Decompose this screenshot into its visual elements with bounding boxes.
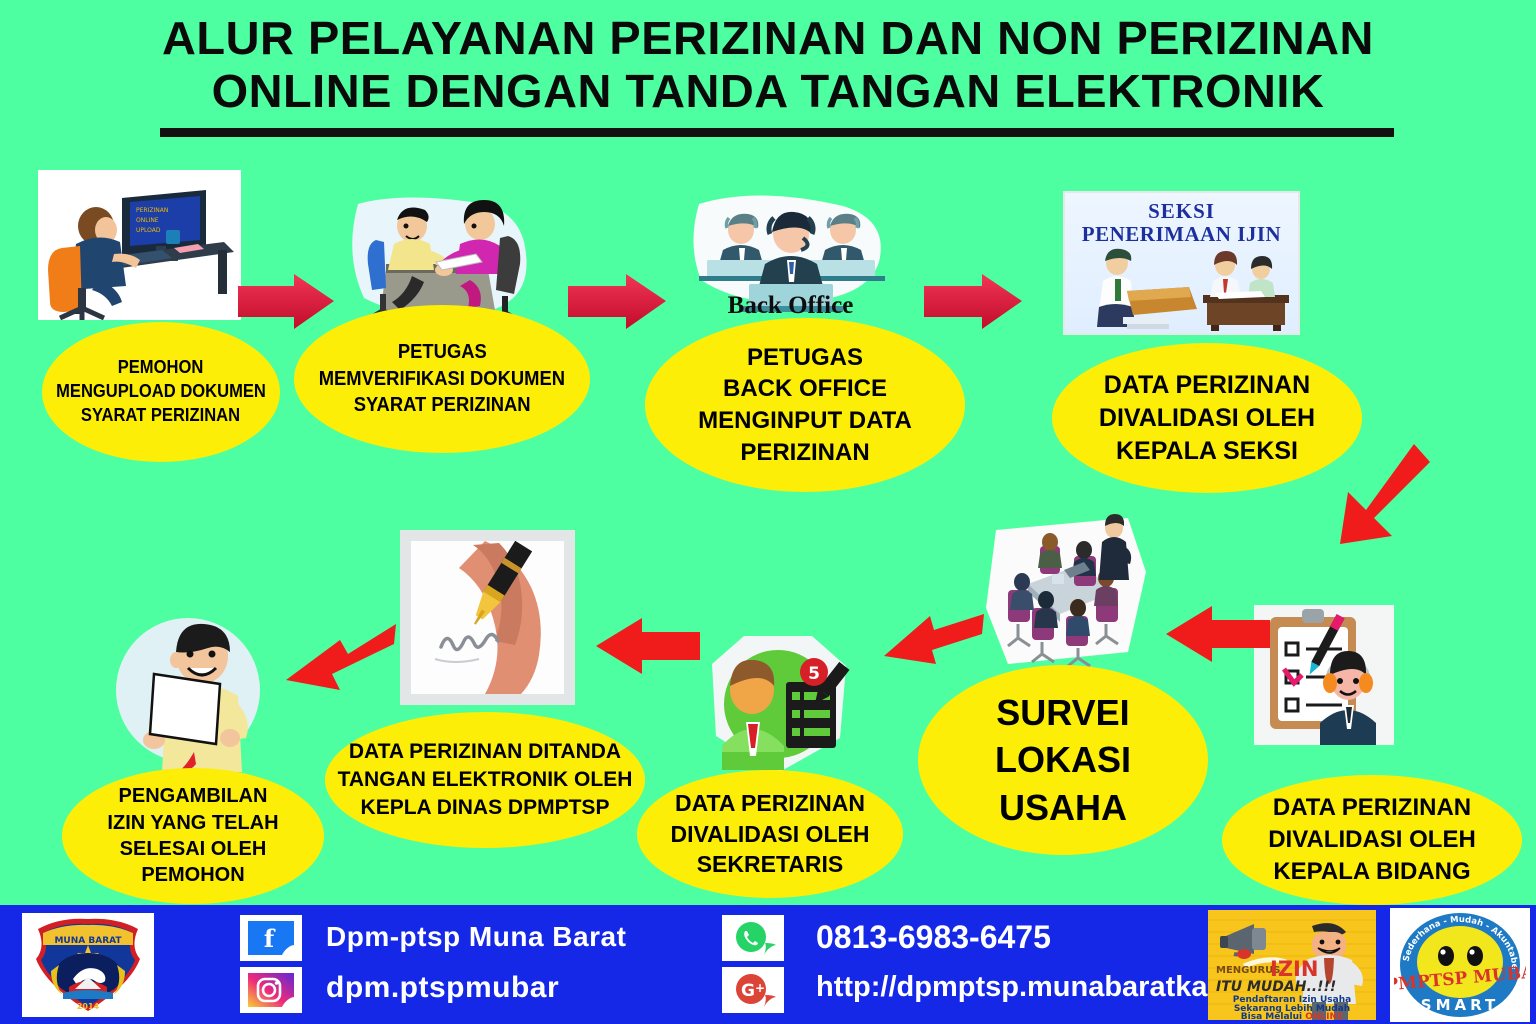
callout-line: SURVEI: [996, 689, 1129, 737]
seksi-caption-line2: PENERIMAAN IJIN: [1065, 222, 1298, 247]
callout-line: DATA PERIZINAN: [675, 788, 865, 818]
callout-line: MENGINPUT DATA: [698, 405, 912, 437]
instagram-icon[interactable]: [240, 967, 302, 1013]
flow-arrow-4-down-icon: [1318, 440, 1438, 560]
applicant-at-computer-image: PERIZINANONLINEUPLOAD: [38, 170, 241, 320]
callout-line: MENGUPLOAD DOKUMEN: [56, 380, 266, 404]
whatsapp-label[interactable]: 0813-6983-6475: [816, 919, 1051, 956]
callout-line: KEPALA SEKSI: [1116, 435, 1298, 468]
izin-line2: ITU MUDAH..!!!: [1216, 979, 1336, 995]
svg-text:G: G: [741, 981, 755, 1001]
muna-barat-crest-logo: MUNA BARAT 2014: [22, 913, 154, 1017]
flow-arrow-3-right-icon: [922, 272, 1024, 332]
dpmptsp-mubar-smart-logo: Sederhana - Mudah - Akuntabel - Ramah - …: [1390, 908, 1530, 1022]
callout-kepala-bidang: DATA PERIZINAN DIVALIDASI OLEH KEPALA BI…: [1222, 775, 1522, 905]
svg-text:+: +: [755, 981, 765, 995]
applicant-receiving-permit-image: [108, 612, 268, 772]
izin-sub3: Bisa Melalui ONLINE: [1241, 1012, 1343, 1020]
izin-mudah-banner: MENGURUS IZIN ITU MUDAH..!!! Pendaftaran…: [1208, 910, 1376, 1020]
callout-kepala-seksi: DATA PERIZINAN DIVALIDASI OLEH KEPALA SE…: [1052, 343, 1362, 493]
crest-year: 2014: [77, 1002, 100, 1011]
callout-line: SEKRETARIS: [697, 849, 844, 879]
callout-line: SYARAT PERIZINAN: [354, 392, 531, 418]
callout-line: SYARAT PERIZINAN: [81, 404, 240, 428]
callout-line: KEPLA DINAS DPMPTSP: [361, 794, 610, 822]
callout-line: PENGAMBILAN: [119, 783, 268, 809]
callout-line: PETUGAS: [398, 339, 487, 365]
callout-line: PEMOHON: [118, 356, 204, 380]
callout-sekretaris: DATA PERIZINAN DIVALIDASI OLEH SEKRETARI…: [637, 770, 903, 898]
callout-ttd-elektronik-kepala-dinas: DATA PERIZINAN DITANDA TANGAN ELEKTRONIK…: [325, 712, 645, 848]
callout-survei-lokasi: SURVEI LOKASI USAHA: [918, 665, 1208, 855]
callout-line: SELESAI OLEH: [120, 836, 267, 862]
callout-line: PERIZINAN: [740, 437, 869, 469]
callout-line: MEMVERIFIKASI DOKUMEN: [319, 366, 565, 392]
svg-text:PERIZINAN: PERIZINAN: [136, 207, 168, 214]
flow-arrow-7-left-icon: [592, 612, 702, 680]
back-office-image: Back Office: [683, 190, 898, 318]
callout-line: BACK OFFICE: [723, 373, 887, 405]
callout-line: KEPALA BIDANG: [1273, 856, 1470, 888]
callout-line: IZIN YANG TELAH: [107, 810, 278, 836]
callout-line: DIVALIDASI OLEH: [1099, 402, 1315, 435]
flow-arrow-6-left-icon: [880, 604, 986, 674]
callout-line: PEMOHON: [141, 862, 244, 888]
svg-text:ONLINE: ONLINE: [136, 217, 159, 224]
electronic-signature-image: [400, 530, 575, 705]
googleplus-icon[interactable]: G +: [722, 967, 784, 1013]
callout-line: DATA PERIZINAN: [1273, 792, 1471, 824]
crest-top-text: MUNA BARAT: [54, 936, 122, 946]
title-line-2: ONLINE DENGAN TANDA TANGAN ELEKTRONIK: [0, 67, 1536, 116]
facebook-label[interactable]: Dpm-ptsp Muna Barat: [326, 921, 626, 953]
back-office-caption: Back Office: [683, 292, 898, 318]
izin-line1-big: IZIN: [1270, 957, 1318, 981]
callout-line: TANGAN ELEKTRONIK OLEH: [338, 766, 633, 794]
validation-clipboard-image: [1254, 605, 1394, 745]
seksi-caption-line1: SEKSI: [1065, 199, 1298, 224]
callout-line: PETUGAS: [747, 342, 863, 374]
svg-text:UPLOAD: UPLOAD: [136, 227, 161, 234]
flow-arrow-2-right-icon: [566, 272, 668, 332]
smart-bottom-text: SMART: [1421, 996, 1499, 1014]
secretary-validation-image: 5: [700, 630, 855, 780]
page-title: ALUR PELAYANAN PERIZINAN DAN NON PERIZIN…: [0, 14, 1536, 116]
facebook-icon[interactable]: f: [240, 915, 302, 961]
callout-pengambilan-izin: PENGAMBILAN IZIN YANG TELAH SELESAI OLEH…: [62, 768, 324, 904]
callout-line: DIVALIDASI OLEH: [671, 819, 870, 849]
poster-canvas: ALUR PELAYANAN PERIZINAN DAN NON PERIZIN…: [0, 0, 1536, 1024]
seksi-penerimaan-ijin-image: SEKSI PENERIMAAN IJIN: [1063, 191, 1300, 335]
callout-line: LOKASI: [995, 736, 1131, 784]
meeting-survey-image: [978, 512, 1154, 677]
callout-line: DATA PERIZINAN DITANDA: [349, 738, 621, 766]
callout-back-office-input: PETUGAS BACK OFFICE MENGINPUT DATA PERIZ…: [645, 318, 965, 492]
callout-pemohon-upload: PEMOHON MENGUPLOAD DOKUMEN SYARAT PERIZI…: [42, 322, 280, 462]
flow-arrow-8-left-icon: [282, 620, 398, 706]
callout-petugas-verifikasi: PETUGAS MEMVERIFIKASI DOKUMEN SYARAT PER…: [294, 305, 590, 453]
svg-text:f: f: [264, 924, 276, 953]
title-line-1: ALUR PELAYANAN PERIZINAN DAN NON PERIZIN…: [0, 14, 1536, 63]
callout-line: USAHA: [999, 784, 1127, 832]
callout-line: DATA PERIZINAN: [1104, 369, 1310, 402]
flow-arrow-1-right-icon: [236, 272, 336, 332]
flow-arrow-5-left-icon: [1162, 600, 1272, 668]
callout-line: DIVALIDASI OLEH: [1268, 824, 1476, 856]
title-underline: [160, 128, 1394, 137]
svg-text:5: 5: [808, 664, 820, 684]
whatsapp-icon[interactable]: [722, 915, 784, 961]
instagram-label[interactable]: dpm.ptspmubar: [326, 971, 559, 1005]
